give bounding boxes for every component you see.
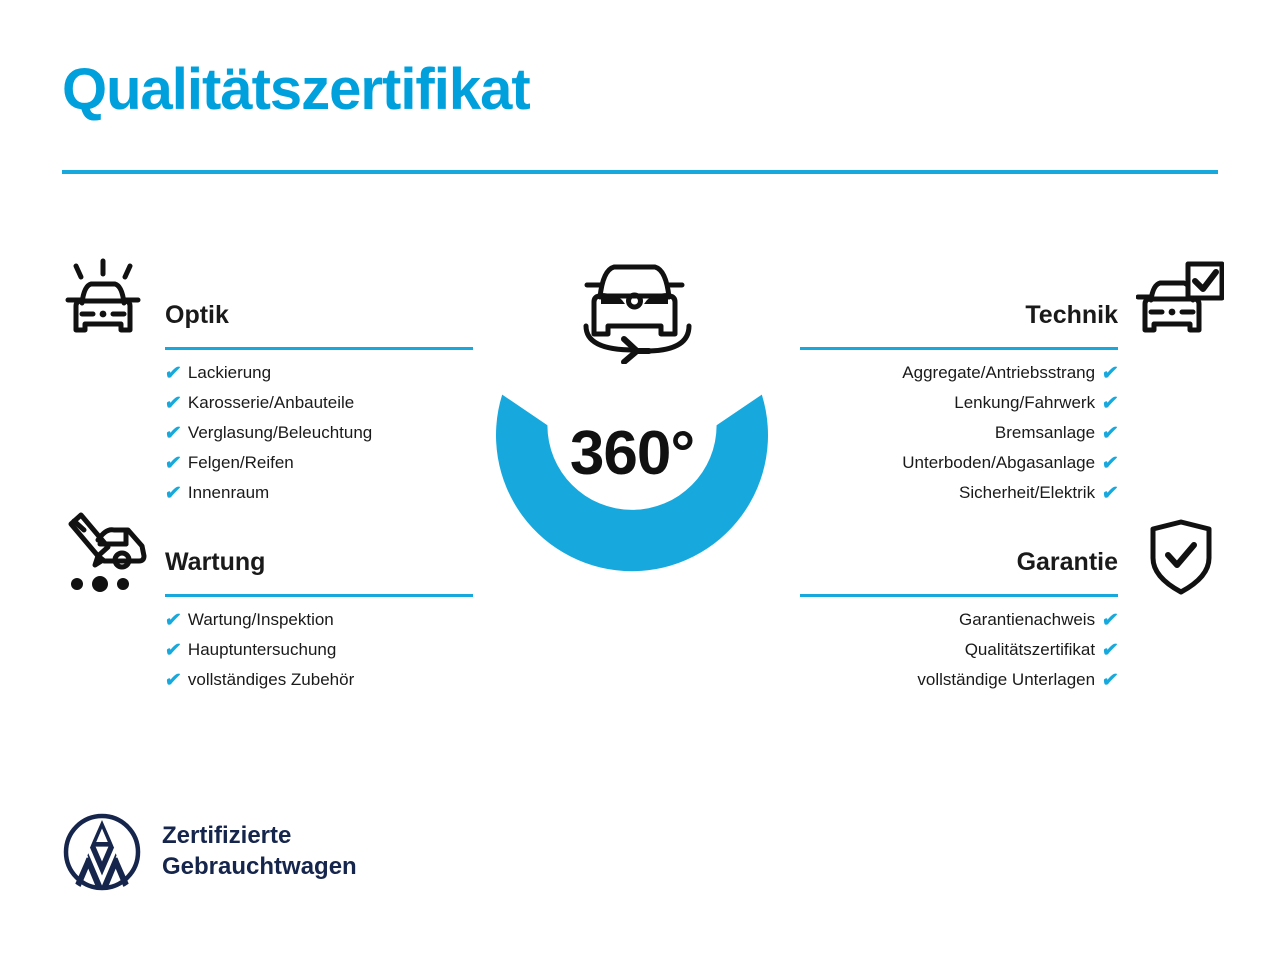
list-item: ✔Felgen/Reifen [165, 448, 473, 478]
check-icon: ✔ [164, 484, 183, 503]
list-item-label: Felgen/Reifen [188, 448, 294, 478]
check-icon: ✔ [1101, 484, 1120, 503]
list-item-label: Lenkung/Fahrwerk [954, 388, 1095, 418]
section-optik-list: ✔Lackierung ✔Karosserie/Anbauteile ✔Verg… [165, 358, 473, 508]
section-wartung-title: Wartung [165, 545, 473, 579]
check-icon: ✔ [1101, 454, 1120, 473]
check-icon: ✔ [164, 671, 183, 690]
check-icon: ✔ [164, 611, 183, 630]
list-item-label: Karosserie/Anbauteile [188, 388, 354, 418]
list-item: Qualitätszertifikat✔ [800, 635, 1118, 665]
list-item-label: Qualitätszertifikat [965, 635, 1095, 665]
list-item: ✔vollständiges Zubehör [165, 665, 473, 695]
list-item: vollständige Unterlagen✔ [800, 665, 1118, 695]
list-item-label: Lackierung [188, 358, 271, 388]
check-icon: ✔ [1101, 394, 1120, 413]
check-icon: ✔ [1101, 611, 1120, 630]
title-divider [62, 170, 1218, 174]
list-item-label: Wartung/Inspektion [188, 605, 334, 635]
list-item-label: vollständiges Zubehör [188, 665, 354, 695]
list-item-label: Aggregate/Antriebsstrang [902, 358, 1095, 388]
car-service-pencil-icon [60, 508, 152, 594]
section-technik: Technik Aggregate/Antriebsstrang✔ Lenkun… [800, 298, 1118, 508]
list-item-label: Unterboden/Abgasanlage [902, 448, 1095, 478]
footer-branding: Zertifizierte Gebrauchtwagen [62, 812, 357, 892]
car-rotate-icon [565, 252, 711, 364]
check-icon: ✔ [1101, 424, 1120, 443]
list-item-label: Verglasung/Beleuchtung [188, 418, 372, 448]
section-garantie-title: Garantie [800, 545, 1118, 579]
section-technik-header: Technik [800, 298, 1118, 350]
check-icon: ✔ [164, 394, 183, 413]
list-item-label: vollständige Unterlagen [917, 665, 1095, 695]
section-garantie-header: Garantie [800, 545, 1118, 597]
section-optik-title: Optik [165, 298, 473, 332]
check-icon: ✔ [1101, 641, 1120, 660]
page-title: Qualitätszertifikat [62, 58, 530, 122]
check-icon: ✔ [164, 364, 183, 383]
check-icon: ✔ [164, 454, 183, 473]
list-item: Sicherheit/Elektrik✔ [800, 478, 1118, 508]
list-item: Garantienachweis✔ [800, 605, 1118, 635]
car-front-shine-icon [62, 258, 144, 344]
vw-logo-icon [62, 812, 142, 892]
list-item: Lenkung/Fahrwerk✔ [800, 388, 1118, 418]
section-garantie-divider [800, 594, 1118, 597]
section-wartung-list: ✔Wartung/Inspektion ✔Hauptuntersuchung ✔… [165, 605, 473, 695]
section-optik-divider [165, 347, 473, 350]
footer-label: Zertifizierte Gebrauchtwagen [162, 821, 357, 882]
list-item: ✔Hauptuntersuchung [165, 635, 473, 665]
badge-center-label: 360° [458, 418, 806, 489]
section-wartung: Wartung ✔Wartung/Inspektion ✔Hauptunters… [165, 545, 473, 695]
list-item: ✔Verglasung/Beleuchtung [165, 418, 473, 448]
list-item: ✔Lackierung [165, 358, 473, 388]
section-optik-header: Optik [165, 298, 473, 350]
list-item-label: Garantienachweis [959, 605, 1095, 635]
badge-360-check: Gebrauchtwagen-Check 360° [458, 322, 806, 622]
check-icon: ✔ [164, 424, 183, 443]
list-item: ✔Karosserie/Anbauteile [165, 388, 473, 418]
list-item-label: Bremsanlage [995, 418, 1095, 448]
section-garantie-list: Garantienachweis✔ Qualitätszertifikat✔ v… [800, 605, 1118, 695]
shield-check-icon [1148, 518, 1214, 596]
list-item: Bremsanlage✔ [800, 418, 1118, 448]
section-garantie: Garantie Garantienachweis✔ Qualitätszert… [800, 545, 1118, 695]
list-item: Unterboden/Abgasanlage✔ [800, 448, 1118, 478]
section-optik: Optik ✔Lackierung ✔Karosserie/Anbauteile… [165, 298, 473, 508]
section-technik-title: Technik [800, 298, 1118, 332]
list-item-label: Hauptuntersuchung [188, 635, 336, 665]
list-item: ✔Wartung/Inspektion [165, 605, 473, 635]
list-item-label: Sicherheit/Elektrik [959, 478, 1095, 508]
section-technik-list: Aggregate/Antriebsstrang✔ Lenkung/Fahrwe… [800, 358, 1118, 508]
check-icon: ✔ [164, 641, 183, 660]
check-icon: ✔ [1101, 364, 1120, 383]
list-item-label: Innenraum [188, 478, 269, 508]
section-wartung-divider [165, 594, 473, 597]
list-item: ✔Innenraum [165, 478, 473, 508]
section-technik-divider [800, 347, 1118, 350]
section-wartung-header: Wartung [165, 545, 473, 597]
list-item: Aggregate/Antriebsstrang✔ [800, 358, 1118, 388]
car-front-checkbox-icon [1136, 258, 1224, 344]
check-icon: ✔ [1101, 671, 1120, 690]
